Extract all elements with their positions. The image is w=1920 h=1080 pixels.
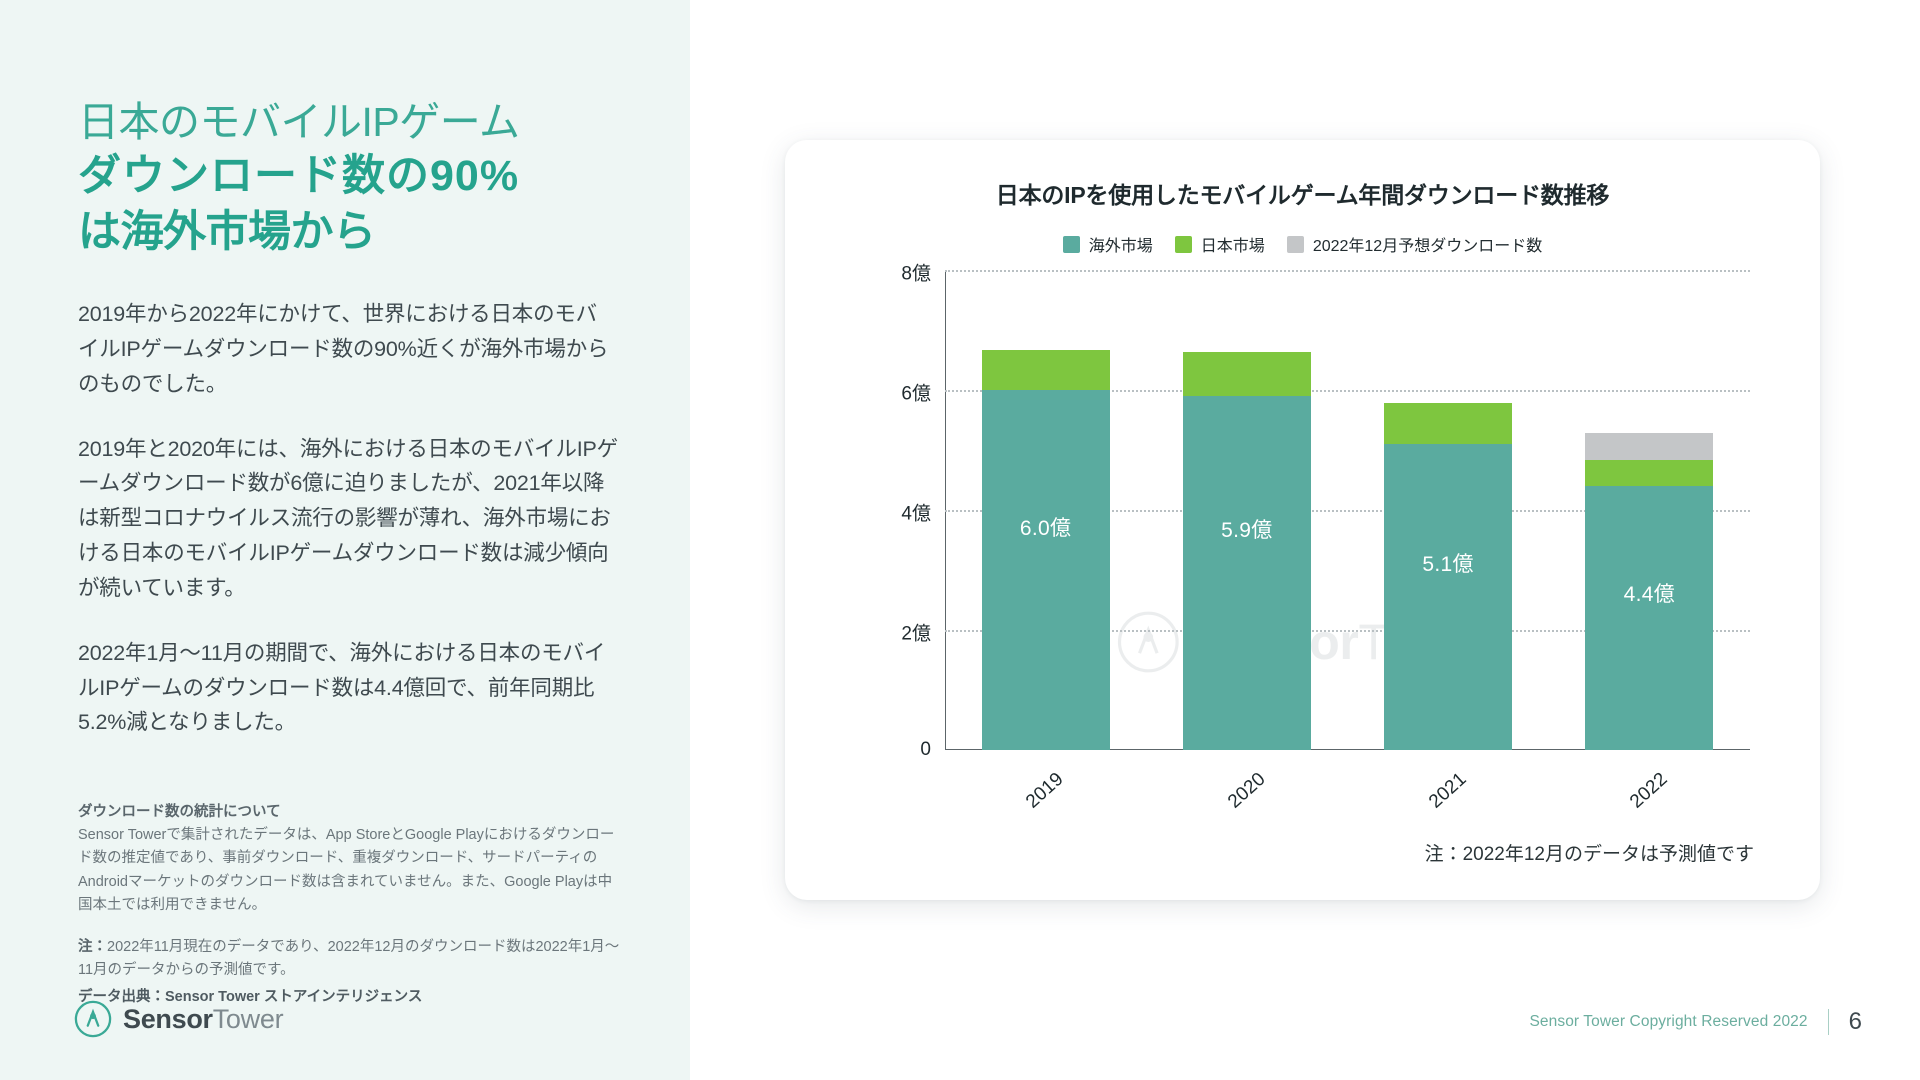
legend-item-overseas[interactable]: 海外市場 bbox=[1063, 232, 1153, 256]
bar-value-2022: 4.4億 bbox=[1585, 578, 1713, 608]
logo-text: SensorTower bbox=[123, 1004, 283, 1035]
y-tick-8: 8億 bbox=[901, 259, 931, 286]
chart-plot-area: 8億 6億 4億 2億 0 bbox=[945, 270, 1750, 750]
bar-slot-2019: 6.0億 2019 bbox=[945, 270, 1146, 750]
legend-item-japan[interactable]: 日本市場 bbox=[1175, 232, 1265, 256]
x-tick-2020: 2020 bbox=[1224, 769, 1270, 814]
legend-label-overseas: 海外市場 bbox=[1089, 232, 1153, 256]
footnote-title: ダウンロード数の統計について bbox=[78, 800, 623, 821]
stacked-bar-2021[interactable]: 5.1億 bbox=[1384, 403, 1512, 750]
bar-group: 6.0億 2019 5.9億 2020 bbox=[945, 270, 1750, 750]
chart-card: 日本のIPを使用したモバイルゲーム年間ダウンロード数推移 海外市場 日本市場 2… bbox=[785, 140, 1820, 900]
x-tick-2021: 2021 bbox=[1425, 769, 1471, 814]
page-title: 日本のモバイルIPゲーム ダウンロード数の90% は海外市場から bbox=[78, 96, 618, 261]
bar-value-2019: 6.0億 bbox=[982, 512, 1110, 542]
y-tick-4: 4億 bbox=[901, 499, 931, 526]
bar-segment-overseas-2019: 6.0億 bbox=[982, 390, 1110, 750]
bar-slot-2020: 5.9億 2020 bbox=[1146, 270, 1347, 750]
stacked-bar-2019[interactable]: 6.0億 bbox=[982, 350, 1110, 750]
bar-segment-overseas-2021: 5.1億 bbox=[1384, 444, 1512, 750]
headline-line-3: は海外市場から bbox=[78, 205, 618, 261]
footnote-note-text: 2022年11月現在のデータであり、2022年12月のダウンロード数は2022年… bbox=[78, 939, 619, 978]
slide: 日本のモバイルIPゲーム ダウンロード数の90% は海外市場から 2019年から… bbox=[0, 0, 1920, 1080]
bar-segment-japan-2019 bbox=[982, 350, 1110, 390]
bar-segment-overseas-2020: 5.9億 bbox=[1183, 396, 1311, 750]
legend-item-forecast[interactable]: 2022年12月予想ダウンロード数 bbox=[1287, 232, 1542, 256]
chart-note: 注：2022年12月のデータは予測値です bbox=[1425, 839, 1754, 866]
paragraph-2: 2019年と2020年には、海外における日本のモバイルIPゲームダウンロード数が… bbox=[78, 432, 618, 606]
bar-value-2020: 5.9億 bbox=[1183, 514, 1311, 544]
footnotes: ダウンロード数の統計について Sensor Towerで集計されたデータは、Ap… bbox=[78, 800, 623, 1020]
page-footer: Sensor Tower Copyright Reserved 2022 6 bbox=[1529, 1008, 1862, 1036]
sensor-tower-logo: SensorTower bbox=[74, 1000, 283, 1038]
bar-segment-forecast-2022 bbox=[1585, 433, 1713, 461]
paragraph-1: 2019年から2022年にかけて、世界における日本のモバイルIPゲームダウンロー… bbox=[78, 297, 618, 401]
body-copy: 2019年から2022年にかけて、世界における日本のモバイルIPゲームダウンロー… bbox=[78, 297, 618, 740]
logo-text-light: Tower bbox=[213, 1004, 284, 1034]
footnote-note: 注：2022年11月現在のデータであり、2022年12月のダウンロード数は202… bbox=[78, 936, 623, 983]
y-tick-0: 0 bbox=[920, 739, 931, 761]
bar-segment-japan-2022 bbox=[1585, 460, 1713, 486]
stacked-bar-2022[interactable]: 4.4億 bbox=[1585, 433, 1713, 750]
chart-legend: 海外市場 日本市場 2022年12月予想ダウンロード数 bbox=[785, 232, 1820, 256]
logo-text-bold: Sensor bbox=[123, 1004, 213, 1034]
left-panel: 日本のモバイルIPゲーム ダウンロード数の90% は海外市場から 2019年から… bbox=[0, 0, 690, 1080]
x-tick-2022: 2022 bbox=[1626, 769, 1672, 814]
paragraph-3: 2022年1月〜11月の期間で、海外における日本のモバイルIPゲームのダウンロー… bbox=[78, 636, 618, 740]
bar-value-2021: 5.1億 bbox=[1384, 548, 1512, 578]
legend-swatch-japan bbox=[1175, 236, 1192, 253]
footnote-body: Sensor Towerで集計されたデータは、App StoreとGoogle … bbox=[78, 824, 623, 918]
bar-segment-japan-2020 bbox=[1183, 352, 1311, 396]
y-tick-6: 6億 bbox=[901, 379, 931, 406]
footer-copyright: Sensor Tower Copyright Reserved 2022 bbox=[1529, 1013, 1807, 1031]
footer-divider bbox=[1828, 1009, 1829, 1035]
headline-line-1: 日本のモバイルIPゲーム bbox=[78, 96, 618, 149]
headline-line-2: ダウンロード数の90% bbox=[78, 149, 618, 205]
legend-swatch-overseas bbox=[1063, 236, 1080, 253]
bar-slot-2022: 4.4億 2022 bbox=[1549, 270, 1750, 750]
sensor-tower-mark-icon bbox=[74, 1000, 112, 1038]
footnote-note-lead: 注： bbox=[78, 939, 107, 955]
stacked-bar-2020[interactable]: 5.9億 bbox=[1183, 352, 1311, 750]
bar-slot-2021: 5.1億 2021 bbox=[1348, 270, 1549, 750]
legend-swatch-forecast bbox=[1287, 236, 1304, 253]
x-tick-2019: 2019 bbox=[1023, 769, 1069, 814]
right-panel: 日本のIPを使用したモバイルゲーム年間ダウンロード数推移 海外市場 日本市場 2… bbox=[690, 0, 1920, 1080]
legend-label-japan: 日本市場 bbox=[1201, 232, 1265, 256]
chart-title: 日本のIPを使用したモバイルゲーム年間ダウンロード数推移 bbox=[785, 176, 1820, 210]
bar-segment-overseas-2022: 4.4億 bbox=[1585, 486, 1713, 750]
legend-label-forecast: 2022年12月予想ダウンロード数 bbox=[1313, 232, 1542, 256]
footnote-note-block: 注：2022年11月現在のデータであり、2022年12月のダウンロード数は202… bbox=[78, 936, 623, 1006]
footer-page-number: 6 bbox=[1849, 1008, 1862, 1036]
y-tick-2: 2億 bbox=[901, 619, 931, 646]
bar-segment-japan-2021 bbox=[1384, 403, 1512, 444]
